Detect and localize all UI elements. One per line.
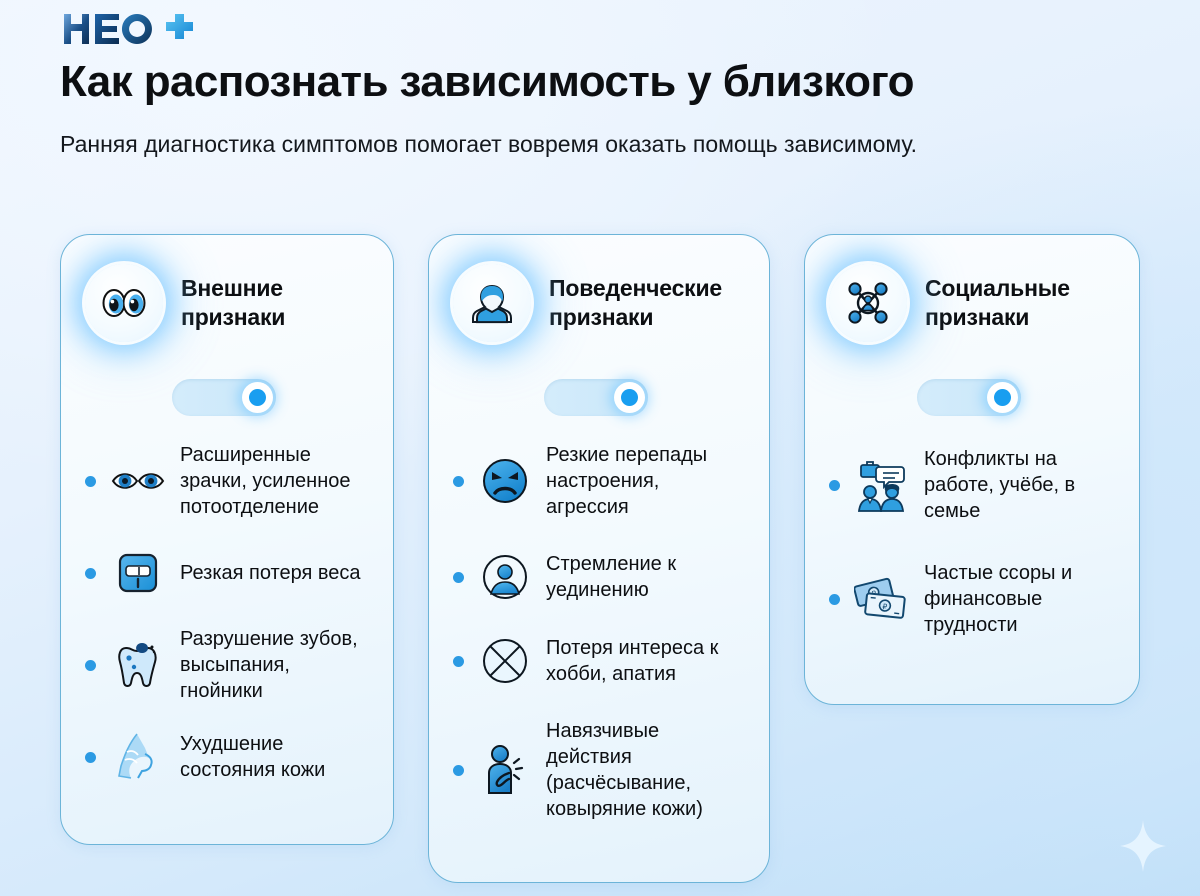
- page-subtitle: Ранняя диагностика симптомов помогает во…: [60, 126, 960, 162]
- toggle-wrap-social: [829, 379, 1115, 416]
- toggle-knob-icon: [987, 382, 1018, 413]
- toggle-knob-icon: [242, 382, 273, 413]
- network-person-icon: [829, 264, 907, 342]
- bullet-dot: [829, 594, 840, 605]
- toggle-outer-signs[interactable]: [172, 379, 276, 416]
- bullet-dot: [453, 656, 464, 667]
- card-outer-signs: Внешние признаки: [60, 234, 394, 845]
- list-item: ₽ ₽ Частые ссоры и финансовые труднос: [829, 560, 1115, 638]
- card-title-social: Социальные признаки: [925, 274, 1115, 332]
- bullet-dot: [85, 660, 96, 671]
- face-skin-icon: [110, 730, 166, 784]
- dilated-pupils-icon: [110, 454, 166, 508]
- list-item: Потеря интереса к хобби, апатия: [453, 634, 745, 688]
- bullet-dot: [85, 476, 96, 487]
- toggle-knob-icon: [614, 382, 645, 413]
- list-item: Разрушение зубов, высыпания, гнойники: [85, 626, 369, 704]
- list-item: Ухудшение состояния кожи: [85, 730, 369, 784]
- person-avatar-icon: [453, 264, 531, 342]
- sign-list-social: Конфликты на работе, учёбе, в семье ₽: [829, 446, 1115, 638]
- list-item: Резкие перепады настроения, агрессия: [453, 442, 745, 520]
- work-conflict-icon: [854, 458, 910, 512]
- list-item-label: Резкие перепады настроения, агрессия: [546, 442, 745, 520]
- sign-list-outer: Расширенные зрачки, усиленное потоотделе…: [85, 442, 369, 784]
- eyes-icon: [85, 264, 163, 342]
- bullet-dot: [453, 572, 464, 583]
- card-header-outer: Внешние признаки: [85, 261, 369, 345]
- toggle-wrap-outer: [85, 379, 369, 416]
- toggle-wrap-behavioral: [453, 379, 745, 416]
- card-behavioral-signs: Поведенческие признаки: [428, 234, 770, 883]
- infographic-page: Как распознать зависимость у близкого Ра…: [0, 0, 1200, 896]
- banknotes-icon: ₽ ₽: [854, 572, 910, 626]
- card-title-outer: Внешние признаки: [181, 274, 369, 332]
- page-title: Как распознать зависимость у близкого: [60, 56, 1160, 108]
- list-item-label: Конфликты на работе, учёбе, в семье: [924, 446, 1115, 524]
- bullet-dot: [829, 480, 840, 491]
- list-item-label: Ухудшение состояния кожи: [180, 731, 369, 783]
- list-item: Расширенные зрачки, усиленное потоотделе…: [85, 442, 369, 520]
- sparkle-icon: [1120, 820, 1166, 872]
- toggle-social-signs[interactable]: [917, 379, 1021, 416]
- angry-face-icon: [477, 454, 533, 508]
- list-item: Навязчивые действия (расчёсывание, ковыр…: [453, 718, 745, 822]
- bullet-dot: [85, 568, 96, 579]
- card-social-signs: Социальные признаки: [804, 234, 1140, 705]
- list-item-label: Резкая потеря веса: [180, 560, 361, 586]
- toggle-behavioral-signs[interactable]: [544, 379, 648, 416]
- sign-list-behavioral: Резкие перепады настроения, агрессия: [453, 442, 745, 822]
- list-item-label: Навязчивые действия (расчёсывание, ковыр…: [546, 718, 745, 822]
- list-item-label: Стремление к уединению: [546, 551, 745, 603]
- list-item-label: Расширенные зрачки, усиленное потоотделе…: [180, 442, 369, 520]
- brand-logo: [62, 12, 194, 46]
- list-item: Конфликты на работе, учёбе, в семье: [829, 446, 1115, 524]
- bullet-dot: [453, 765, 464, 776]
- list-item: Резкая потеря веса: [85, 546, 369, 600]
- bullet-dot: [453, 476, 464, 487]
- neo-plus-logo: [62, 12, 194, 46]
- bullet-dot: [85, 752, 96, 763]
- card-header-behavioral: Поведенческие признаки: [453, 261, 745, 345]
- person-circle-icon: [477, 550, 533, 604]
- card-title-behavioral: Поведенческие признаки: [549, 274, 745, 332]
- list-item: Стремление к уединению: [453, 550, 745, 604]
- signs-card-row: Внешние признаки: [60, 234, 1140, 883]
- crossed-circle-icon: [477, 634, 533, 688]
- list-item-label: Частые ссоры и финансовые трудности: [924, 560, 1115, 638]
- list-item-label: Потеря интереса к хобби, апатия: [546, 635, 745, 687]
- damaged-tooth-icon: [110, 638, 166, 692]
- weight-scale-icon: [110, 546, 166, 600]
- list-item-label: Разрушение зубов, высыпания, гнойники: [180, 626, 369, 704]
- card-header-social: Социальные признаки: [829, 261, 1115, 345]
- scratching-person-icon: [477, 743, 533, 797]
